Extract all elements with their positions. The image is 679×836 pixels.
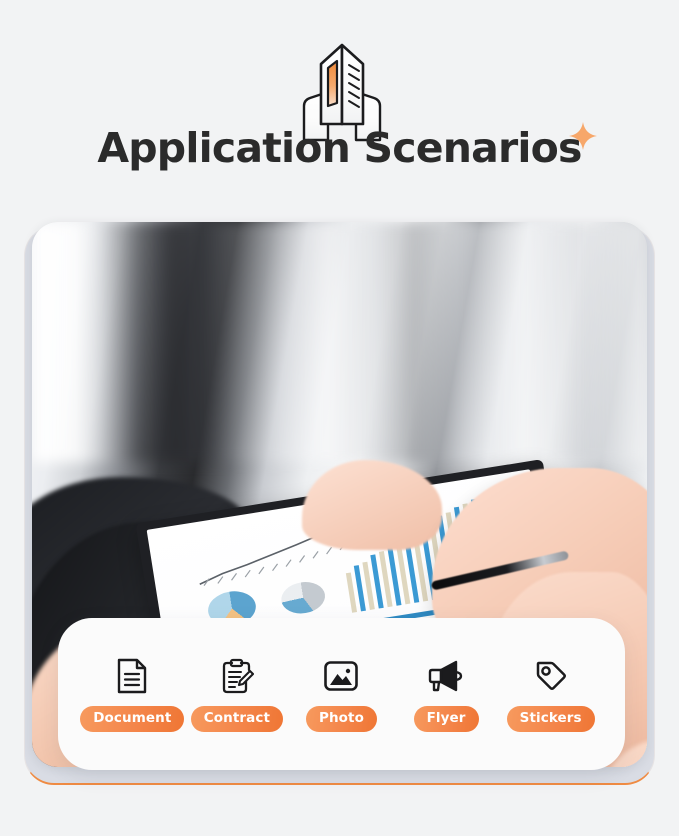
feature-label-stickers[interactable]: Stickers <box>507 706 595 733</box>
feature-label-contract[interactable]: Contract <box>191 706 283 733</box>
feature-flyer[interactable]: Flyer <box>394 656 499 733</box>
feature-document[interactable]: Document <box>80 656 185 733</box>
photo-image-icon <box>321 656 361 696</box>
megaphone-icon <box>426 656 466 696</box>
sparkle-icon <box>568 121 598 151</box>
photo-clipboard-pie-2 <box>279 579 327 617</box>
page-header: Application Scenarios <box>0 0 679 210</box>
feature-label-photo[interactable]: Photo <box>306 706 377 733</box>
feature-contract[interactable]: Contract <box>185 656 290 733</box>
feature-label-flyer[interactable]: Flyer <box>414 706 479 733</box>
feature-label-document[interactable]: Document <box>80 706 184 733</box>
page-title: Application Scenarios <box>97 128 581 169</box>
feature-stickers[interactable]: Stickers <box>498 656 603 733</box>
document-icon <box>112 656 152 696</box>
feature-card: Document Contract <box>58 618 625 770</box>
tag-label-icon <box>531 656 571 696</box>
feature-photo[interactable]: Photo <box>289 656 394 733</box>
contract-clipboard-pen-icon <box>217 656 257 696</box>
photo-office-blur <box>32 222 647 462</box>
